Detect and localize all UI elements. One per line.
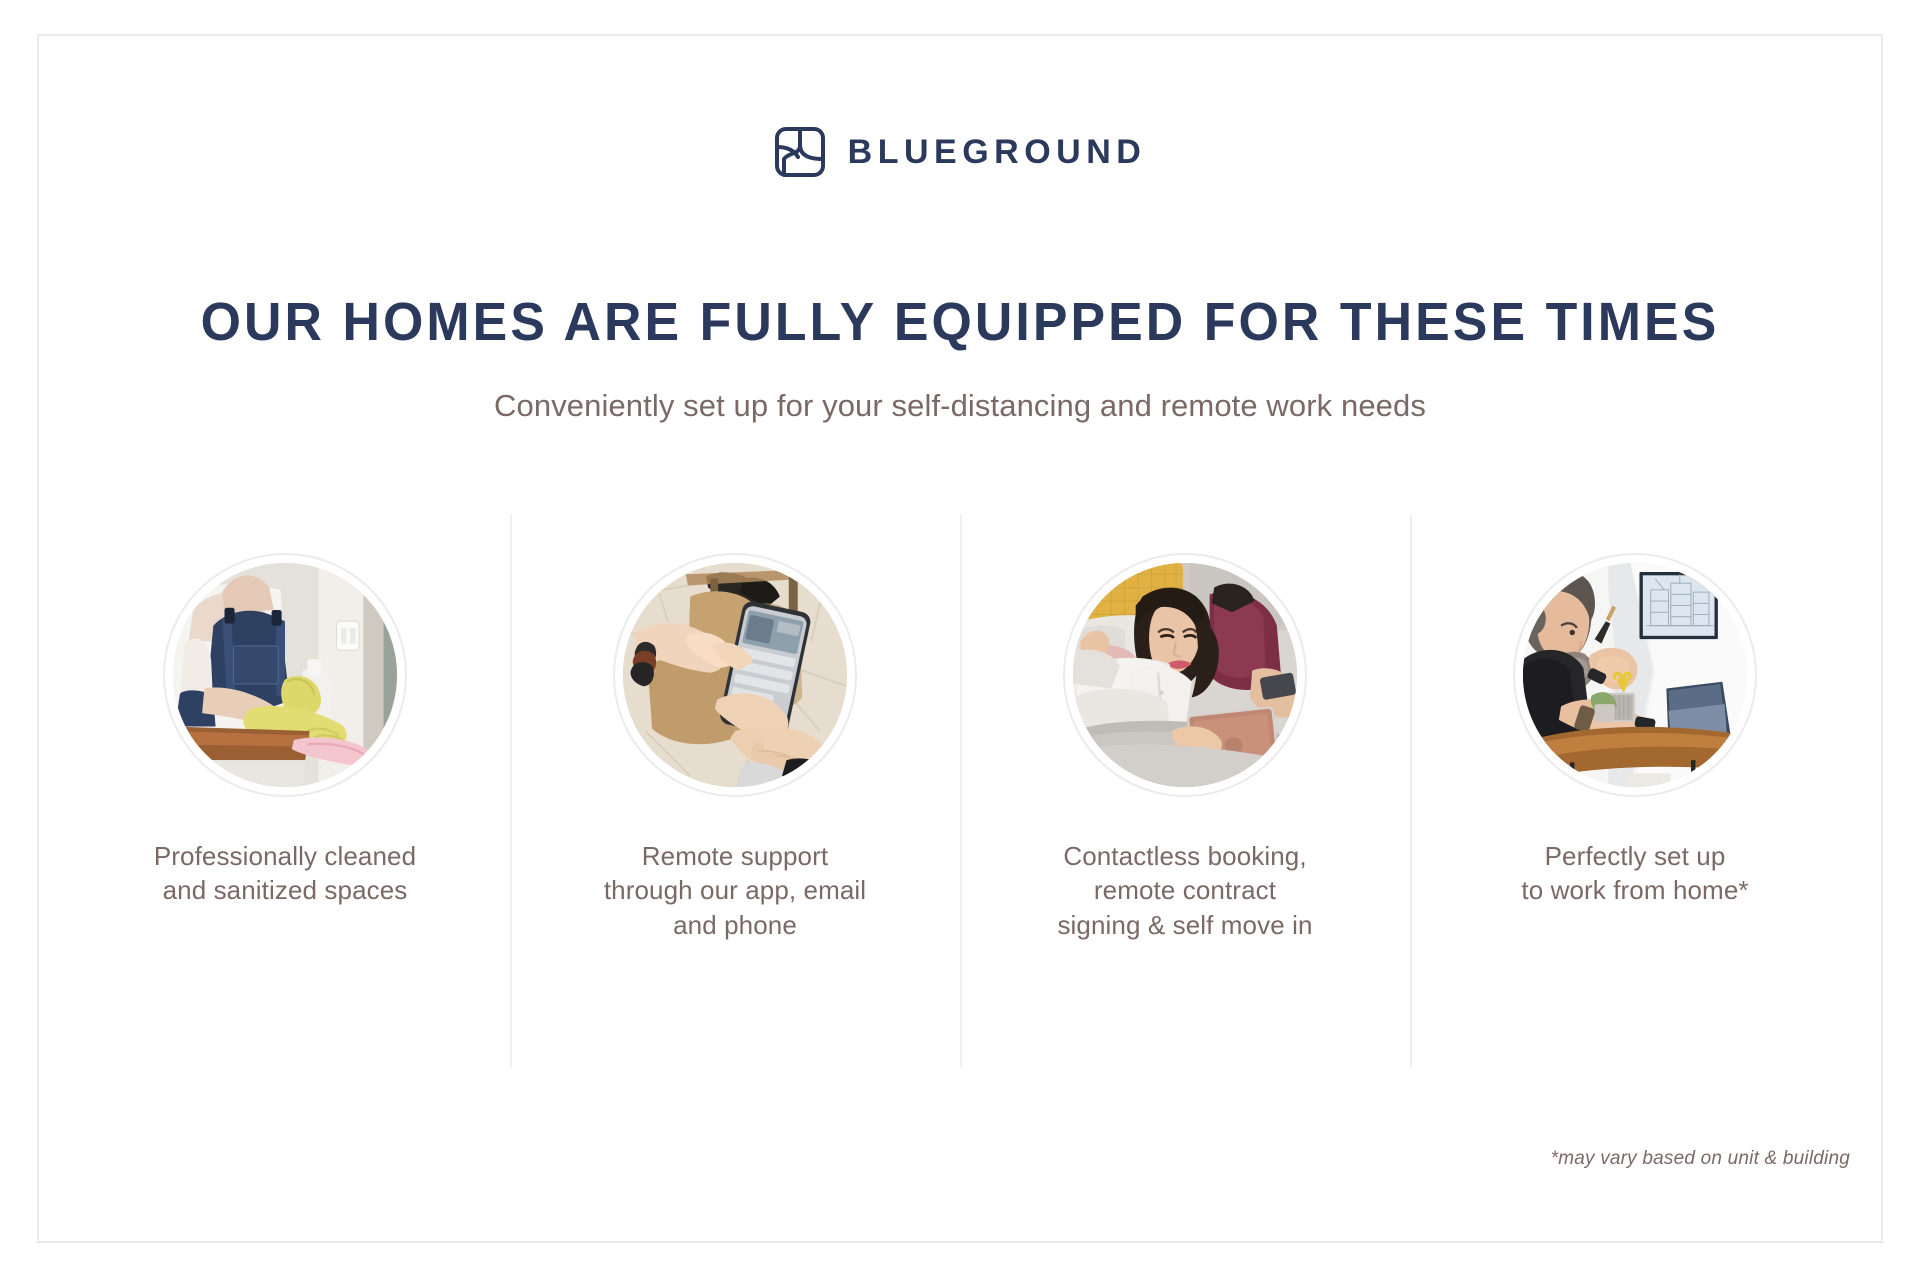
brand-logo: BLUEGROUND	[0, 126, 1920, 178]
photo-smartphone-app	[623, 563, 847, 787]
feature-card-contactless-booking: Contactless booking,remote contractsigni…	[960, 515, 1410, 1067]
photo-ring-1	[163, 553, 407, 797]
feature-caption: Remote supportthrough our app, emailand …	[575, 839, 895, 942]
page-subtitle: Conveniently set up for your self-distan…	[0, 386, 1920, 426]
photo-cleaning-staff	[173, 563, 397, 787]
feature-card-row: Professionally cleanedand sanitized spac…	[60, 515, 1860, 1067]
feature-card-work-from-home: Perfectly set upto work from home*	[1410, 515, 1860, 1067]
feature-caption: Perfectly set upto work from home*	[1475, 839, 1795, 908]
feature-caption: Contactless booking,remote contractsigni…	[1025, 839, 1345, 942]
photo-ring-2	[613, 553, 857, 797]
promo-poster: BLUEGROUND OUR HOMES ARE FULLY EQUIPPED …	[0, 0, 1920, 1280]
brand-wordmark: BLUEGROUND	[848, 135, 1147, 169]
feature-caption: Professionally cleanedand sanitized spac…	[125, 839, 445, 908]
footnote-disclaimer: *may vary based on unit & building	[1551, 1148, 1850, 1170]
photo-ring-4	[1513, 553, 1757, 797]
photo-work-from-home	[1523, 563, 1747, 787]
blueground-square-mark-icon	[774, 126, 826, 178]
photo-tablet-on-bed	[1073, 563, 1297, 787]
page-title: OUR HOMES ARE FULLY EQUIPPED FOR THESE T…	[38, 294, 1881, 351]
feature-card-remote-support: Remote supportthrough our app, emailand …	[510, 515, 960, 1067]
feature-card-cleaning: Professionally cleanedand sanitized spac…	[60, 515, 510, 1067]
photo-ring-3	[1063, 553, 1307, 797]
